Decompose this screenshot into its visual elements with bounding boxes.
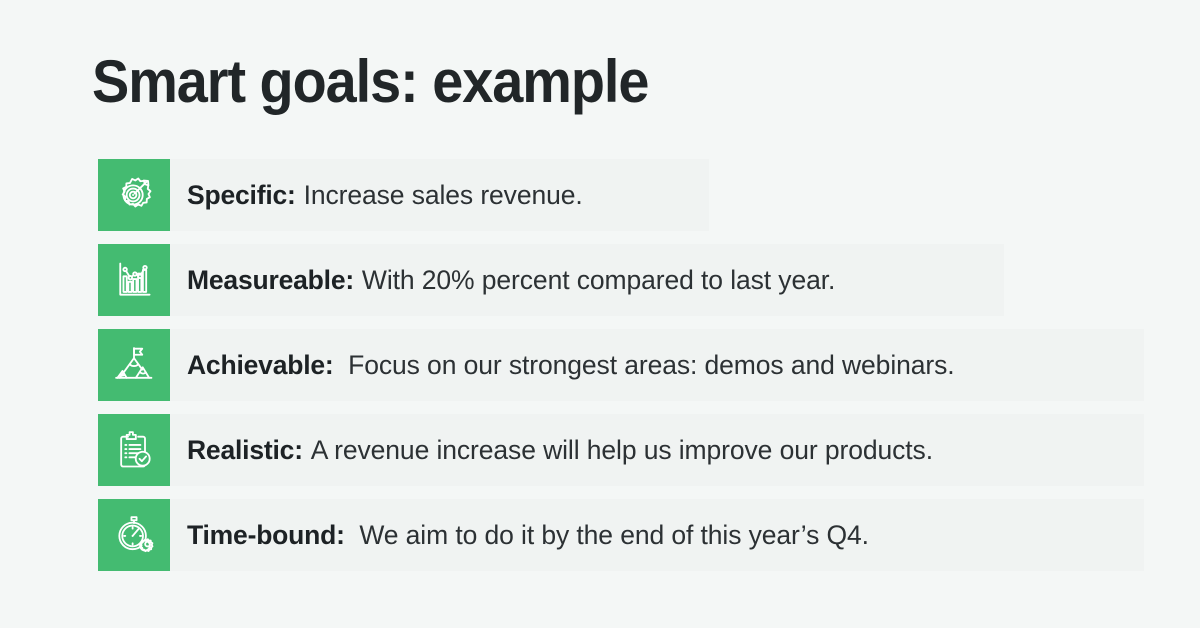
list-item-label: Achievable: xyxy=(187,352,334,379)
list-item-body: Increase sales revenue. xyxy=(304,182,583,209)
bar-chart-line-icon xyxy=(98,244,170,316)
list-item-time-bound: Time-bound: We aim to do it by the end o… xyxy=(98,499,1144,571)
list-item-specific: Specific: Increase sales revenue. xyxy=(98,159,1144,231)
list-item-measureable: Measureable: With 20% percent compared t… xyxy=(98,244,1144,316)
list-item-achievable: Achievable: Focus on our strongest areas… xyxy=(98,329,1144,401)
list-item-text: Time-bound: We aim to do it by the end o… xyxy=(170,499,1144,571)
clipboard-check-icon xyxy=(98,414,170,486)
list-item-label: Time-bound: xyxy=(187,522,345,549)
page-title: Smart goals: example xyxy=(92,47,648,116)
list-item-body: Focus on our strongest areas: demos and … xyxy=(348,352,954,379)
list-item-text: Realistic: A revenue increase will help … xyxy=(170,414,1144,486)
list-item-body: With 20% percent compared to last year. xyxy=(362,267,835,294)
list-item-label: Realistic: xyxy=(187,437,303,464)
list-item-text: Achievable: Focus on our strongest areas… xyxy=(170,329,1144,401)
target-gear-arrow-icon xyxy=(98,159,170,231)
mountain-flag-icon xyxy=(98,329,170,401)
list-item-realistic: Realistic: A revenue increase will help … xyxy=(98,414,1144,486)
list-item-text: Specific: Increase sales revenue. xyxy=(170,159,709,231)
stopwatch-gear-icon xyxy=(98,499,170,571)
list-item-body: A revenue increase will help us improve … xyxy=(311,437,933,464)
list-item-text: Measureable: With 20% percent compared t… xyxy=(170,244,1004,316)
slide-canvas: Smart goals: example Specific: Increase … xyxy=(0,0,1200,628)
list-item-body: We aim to do it by the end of this year’… xyxy=(359,522,869,549)
smart-goals-list: Specific: Increase sales revenue. xyxy=(98,159,1144,571)
list-item-label: Specific: xyxy=(187,182,296,209)
list-item-label: Measureable: xyxy=(187,267,354,294)
